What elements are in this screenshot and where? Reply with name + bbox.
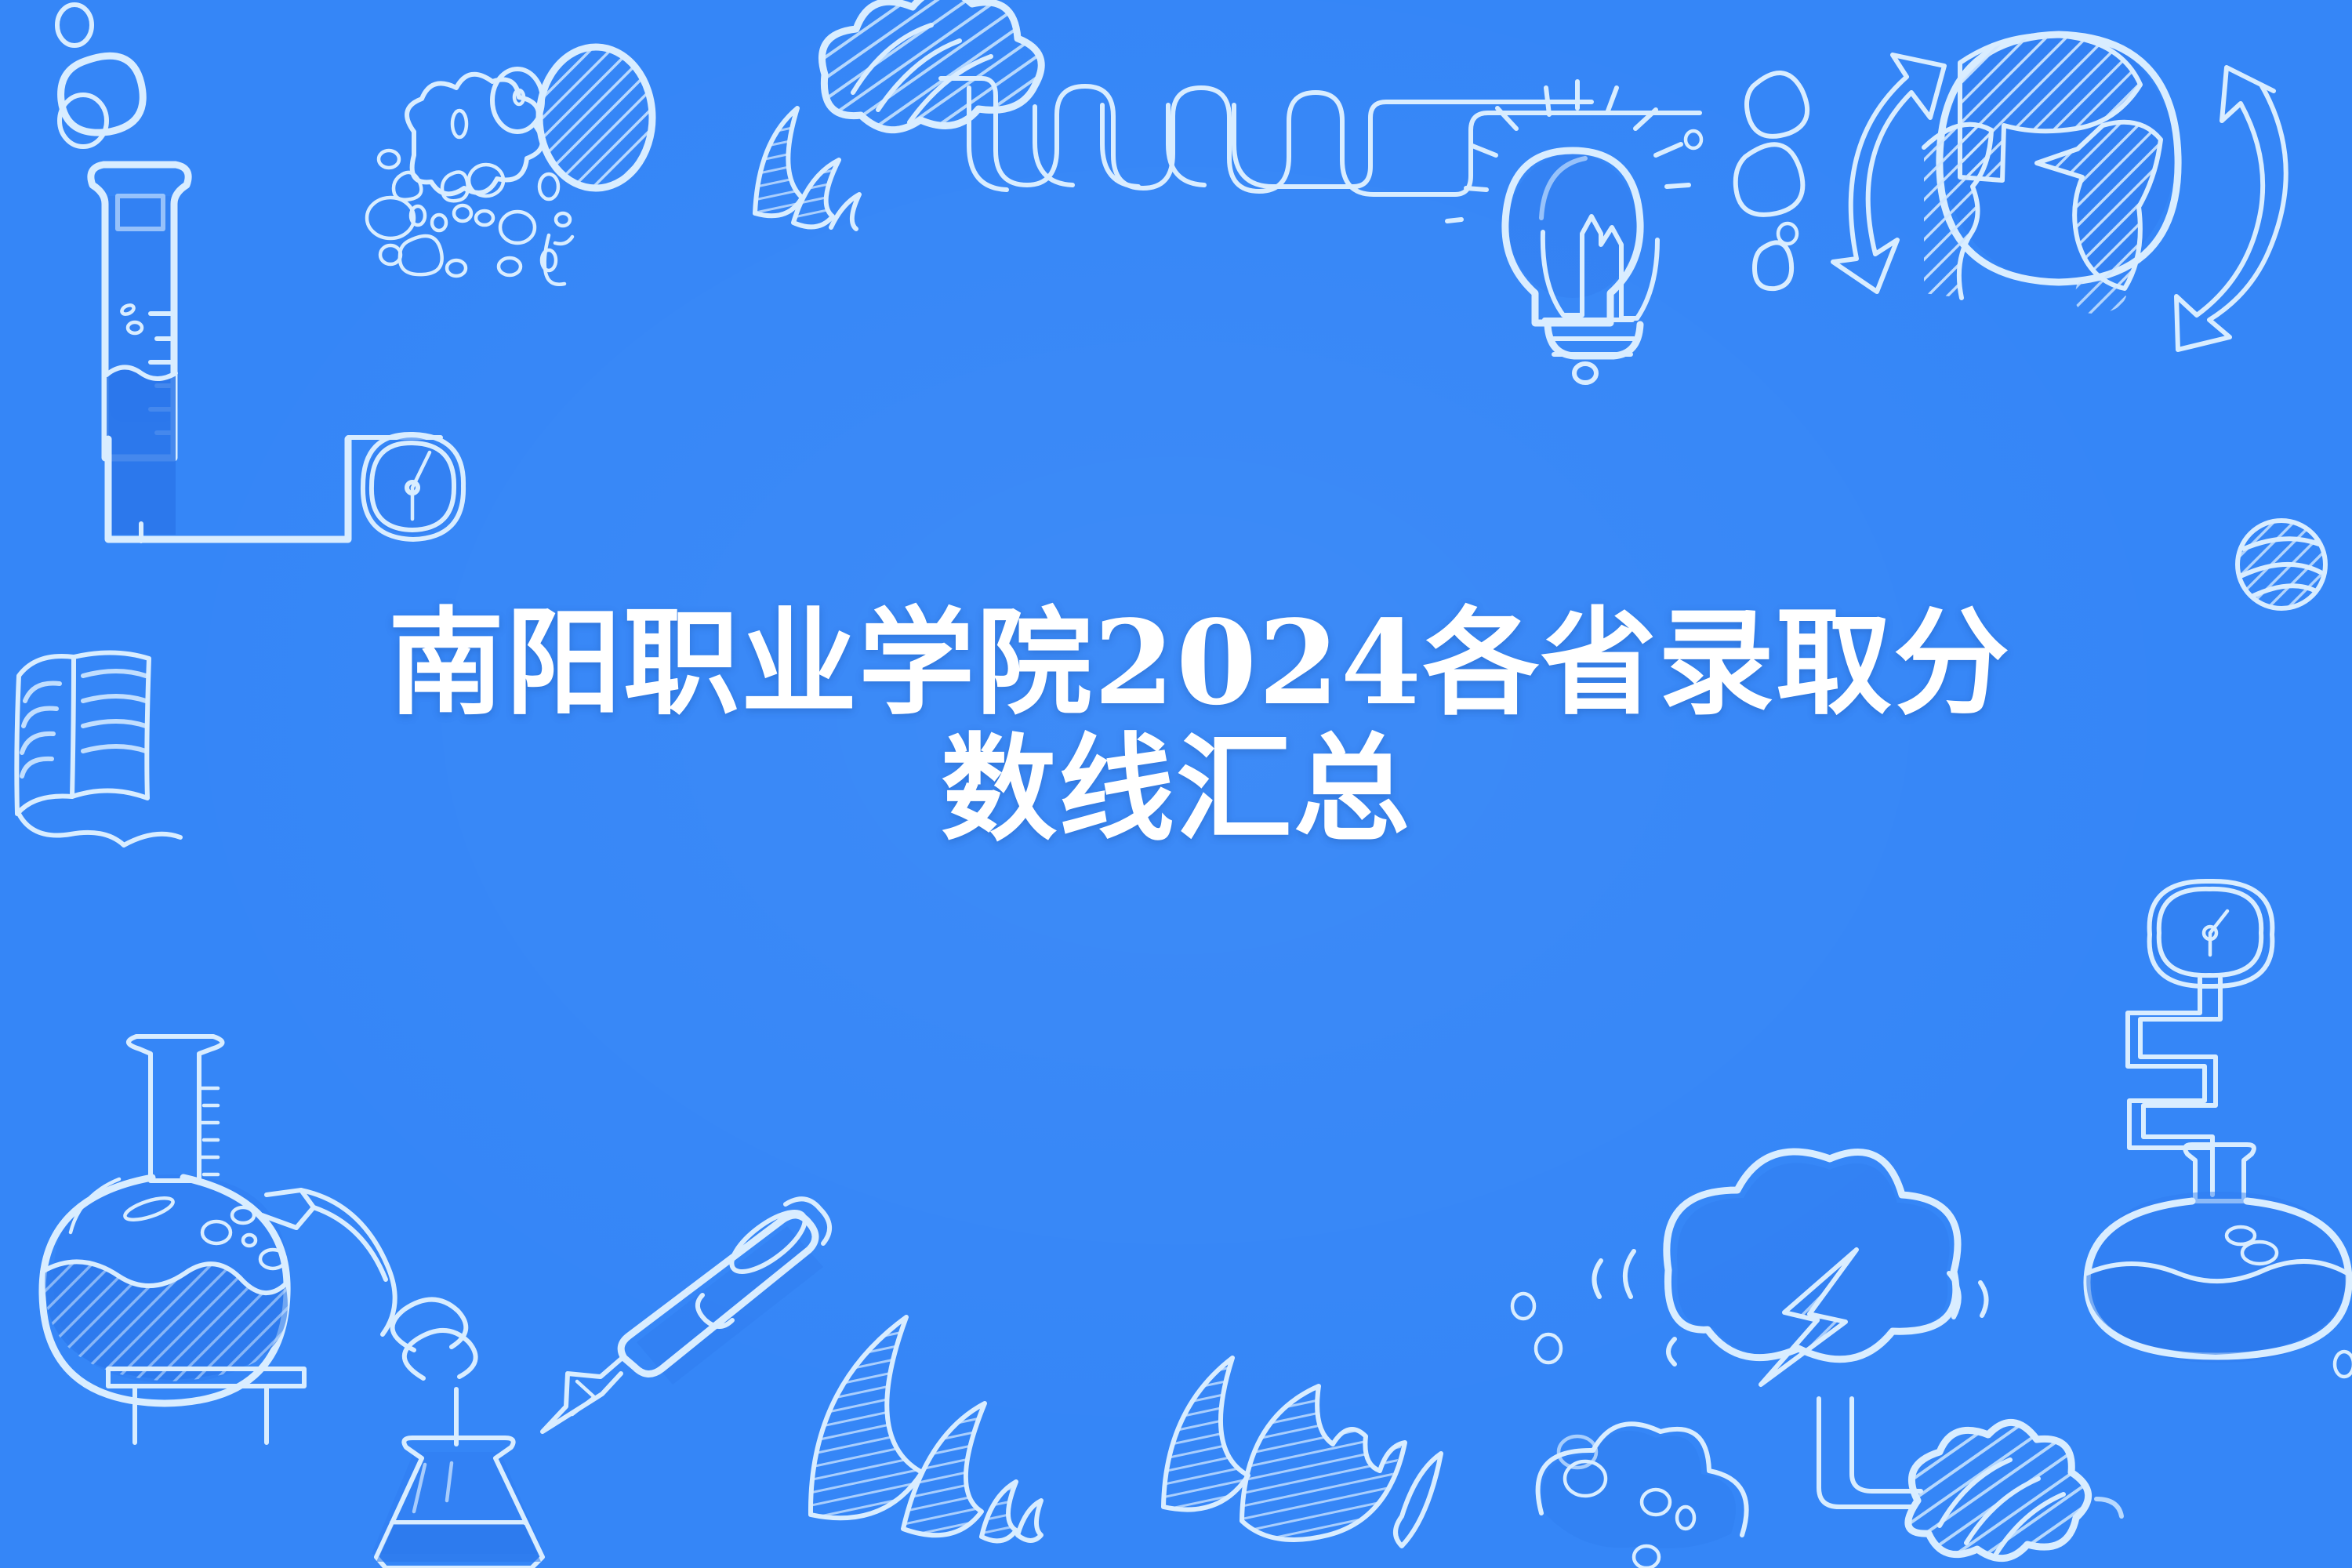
cloud-icon-bottom [1538, 1424, 1747, 1568]
flame-icon-bottom-right [1163, 1358, 1441, 1546]
globe-icon [1924, 31, 2178, 314]
bubble-medium-top-left [61, 56, 143, 132]
hatched-circle-icon-right [2238, 521, 2325, 608]
lightbulb-icon [1447, 82, 1689, 383]
cloud-hatched-icon-top [822, 0, 1041, 130]
decorative-doodle-layer: .ink{fill:none;stroke:#d9edff;stroke-wid… [0, 0, 2352, 1568]
bubble-tiny-mid-right [1512, 1294, 1561, 1363]
cell-cluster-icon [367, 47, 652, 285]
gauge-dial-icon [363, 434, 463, 539]
hatched-oval-icon [539, 47, 652, 188]
flame-icon-top [755, 108, 859, 229]
round-bottom-flask-icon [42, 1036, 395, 1443]
blob-icon-top-right [1686, 73, 1807, 289]
gauge-flask-icon [2086, 881, 2349, 1363]
pill-capsule-icon [1908, 1422, 2122, 1558]
poster-canvas: .ink{fill:none;stroke:#d9edff;stroke-wid… [0, 0, 2352, 1568]
bubble-tiny-bottom-right [2335, 1352, 2352, 1377]
fountain-pen-icon [543, 1199, 829, 1432]
bubble-small-top-left [57, 5, 92, 45]
book-icon [16, 652, 180, 845]
flame-icon-bottom-left [811, 1317, 1041, 1541]
erlenmeyer-flask-icon [372, 1299, 544, 1568]
